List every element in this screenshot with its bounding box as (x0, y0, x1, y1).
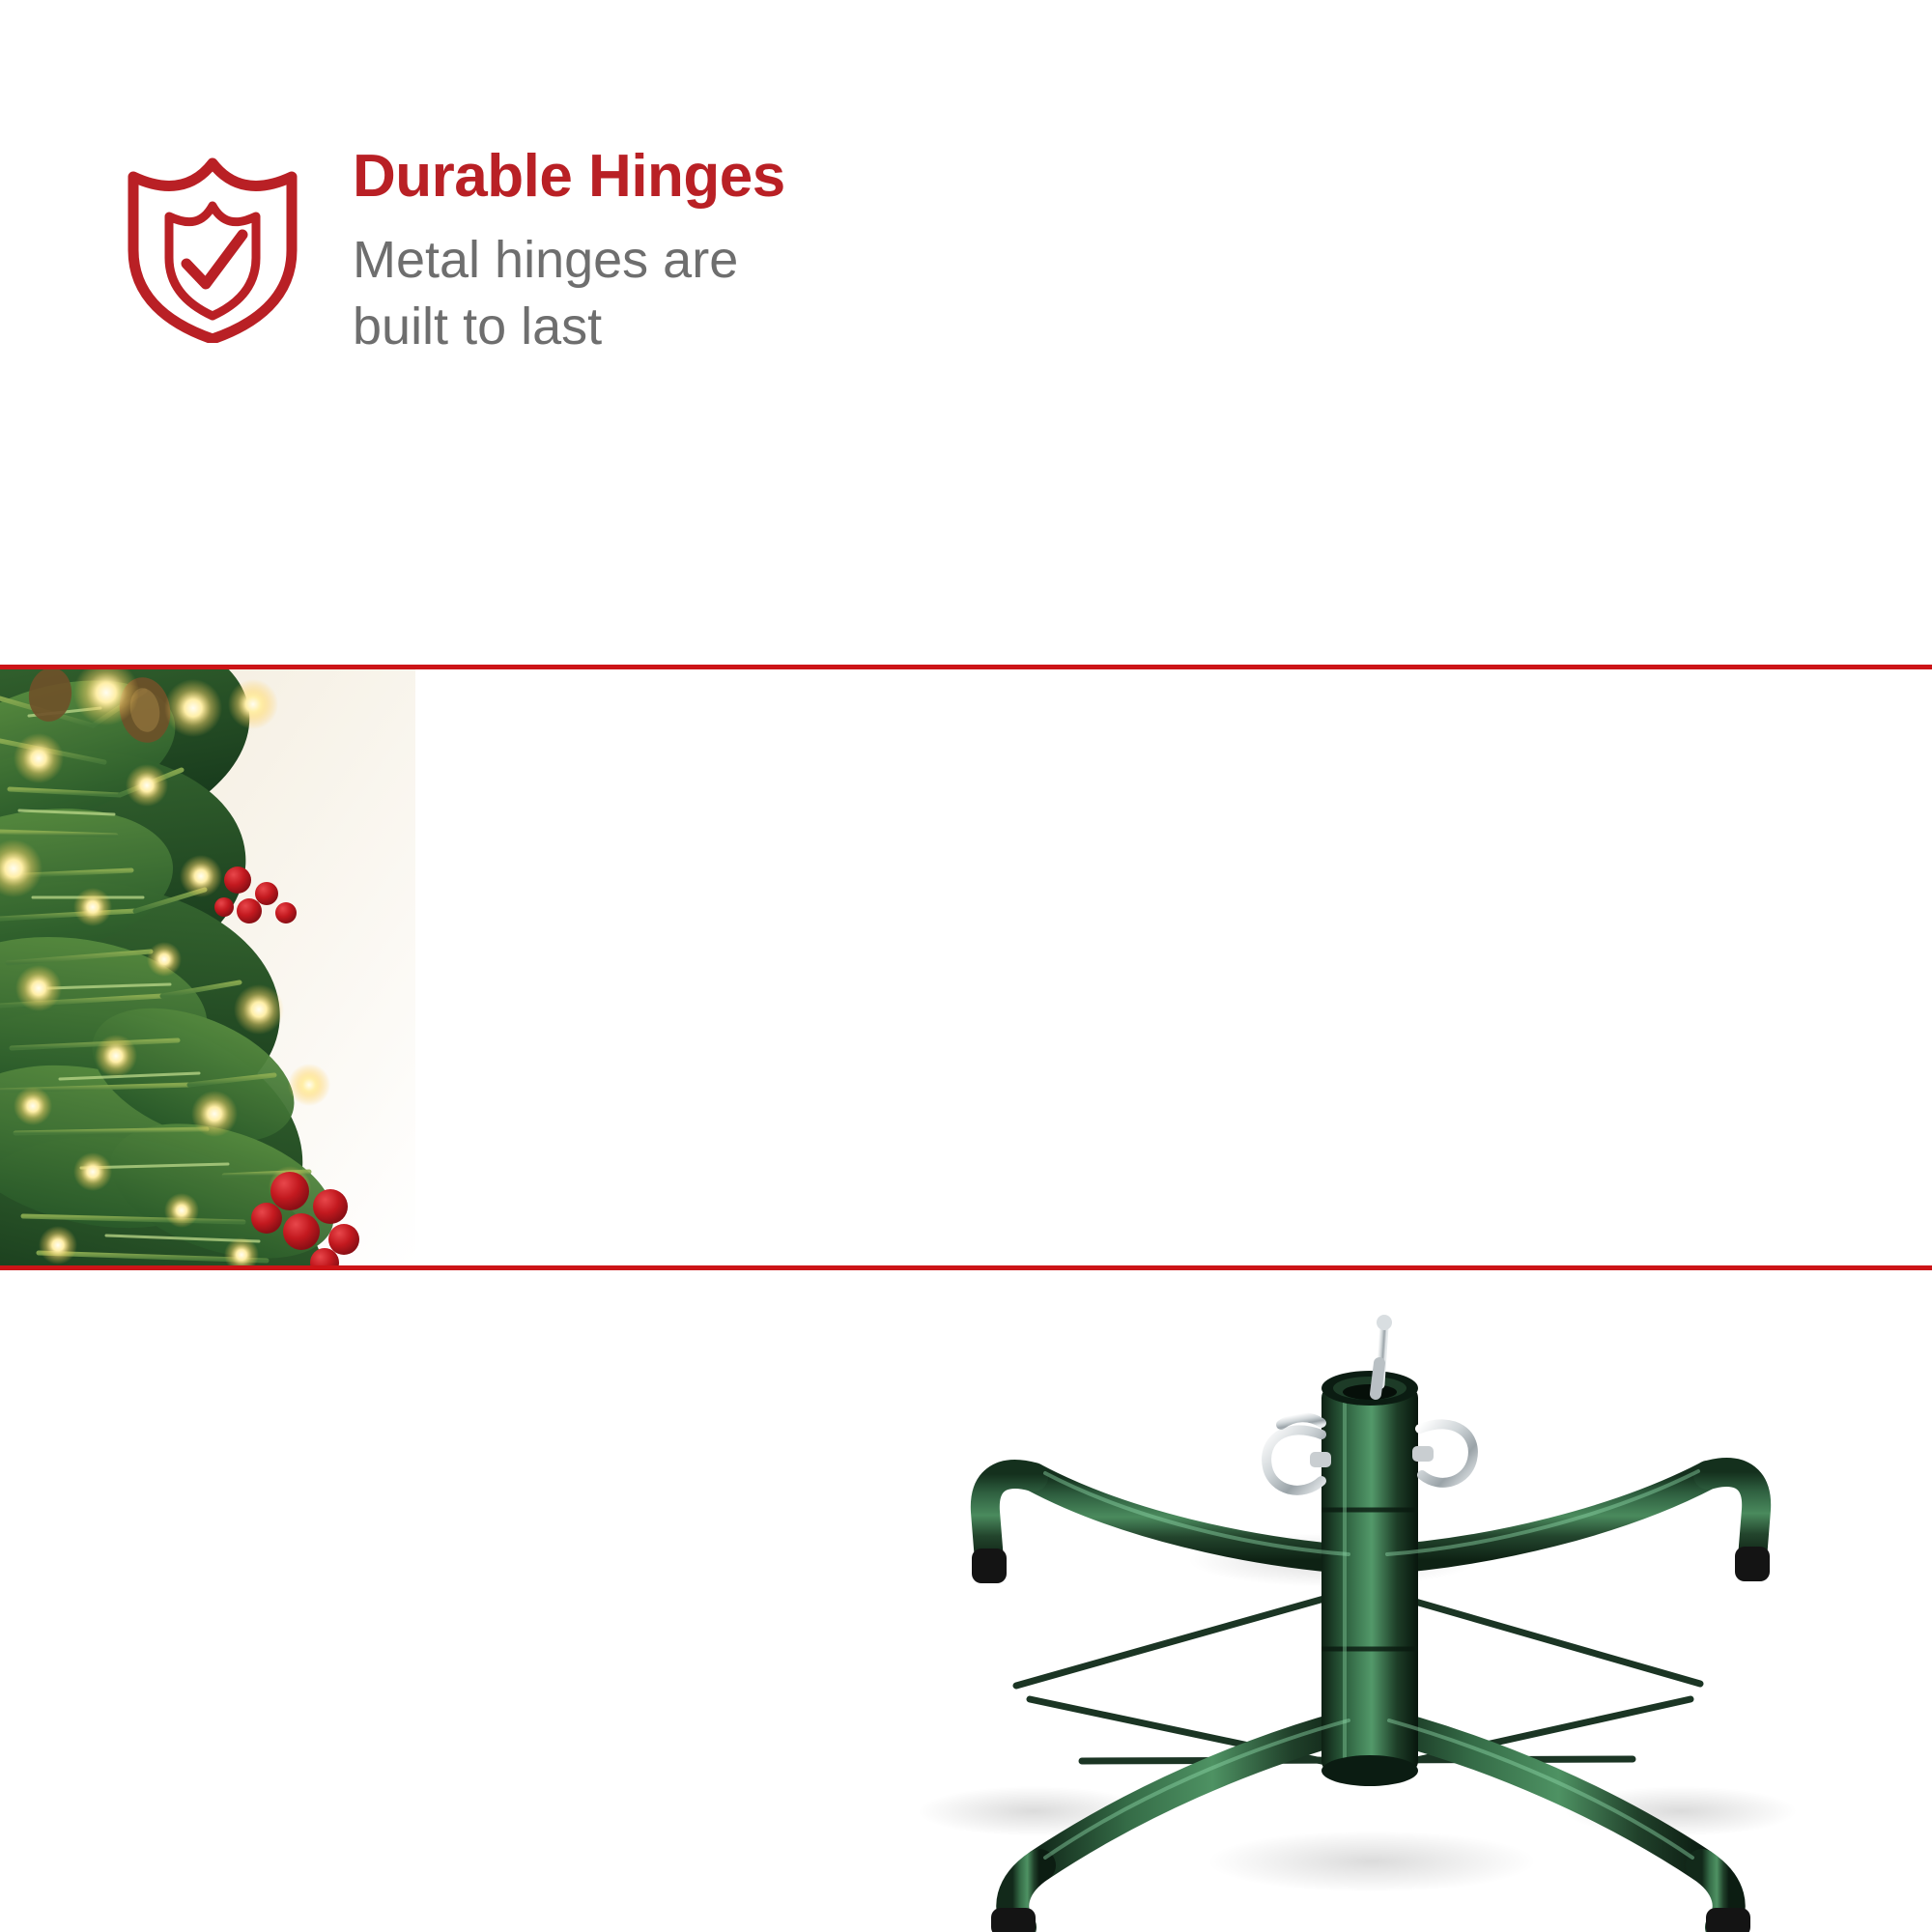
feature-description-durable-hinges: Metal hinges are built to last (353, 227, 785, 360)
photo-background (850, 0, 1932, 665)
feature-panel-sturdy-base: Sturdy Base A reliable stand for your tr… (0, 1270, 1932, 1932)
feature-panel-durable-hinges: Durable Hinges Metal hinges are built to… (0, 0, 1932, 665)
metal-tree-stand-photo (792, 1270, 1932, 1932)
feature-panel-pvc-branches: PVC Branches Flame-retardant for safety … (0, 669, 1932, 1265)
feature-title-durable-hinges: Durable Hinges (353, 145, 785, 210)
description-line: Metal hinges are (353, 227, 785, 294)
prelit-christmas-tree-photo (0, 669, 415, 1265)
description-line: built to last (353, 294, 785, 360)
christmas-tree-branch-photo (850, 0, 1932, 665)
feature-text-durable-hinges: Durable Hinges Metal hinges are built to… (353, 145, 785, 360)
shield-check-icon (116, 150, 309, 343)
product-feature-infographic: Durable Hinges Metal hinges are built to… (0, 0, 1932, 1932)
